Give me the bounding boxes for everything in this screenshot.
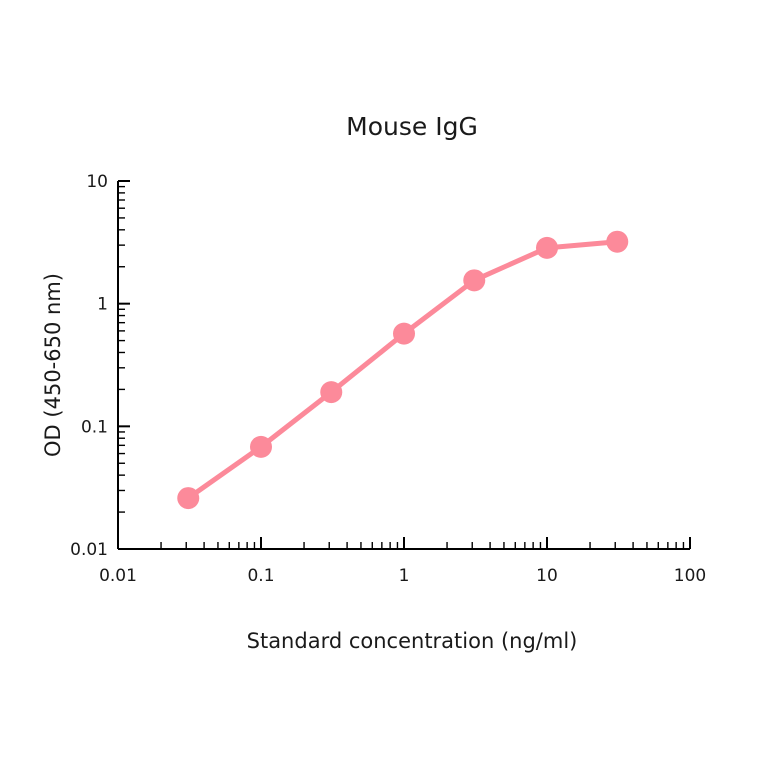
data-point-marker bbox=[177, 487, 199, 509]
y-axis-tick-labels: 1010.10.01 bbox=[70, 172, 108, 560]
chart-container: Mouse IgG Standard concentration (ng/ml)… bbox=[0, 0, 764, 764]
x-tick-label: 100 bbox=[674, 566, 706, 586]
series-line bbox=[188, 242, 617, 498]
data-series-layer bbox=[177, 231, 628, 509]
x-tick-label: 1 bbox=[399, 566, 410, 586]
data-point-marker bbox=[250, 436, 272, 458]
y-axis-label: OD (450-650 nm) bbox=[41, 273, 65, 457]
standard-curve-chart: Mouse IgG Standard concentration (ng/ml)… bbox=[0, 0, 764, 764]
data-point-marker bbox=[320, 381, 342, 403]
y-tick-label: 10 bbox=[86, 172, 108, 192]
data-point-marker bbox=[393, 323, 415, 345]
x-tick-label: 0.1 bbox=[247, 566, 274, 586]
x-axis-label: Standard concentration (ng/ml) bbox=[247, 629, 578, 653]
y-tick-label: 1 bbox=[97, 295, 108, 315]
data-point-marker bbox=[536, 237, 558, 259]
y-axis-ticks bbox=[118, 181, 130, 549]
chart-title: Mouse IgG bbox=[346, 112, 478, 141]
x-axis-tick-labels: 0.010.1110100 bbox=[99, 566, 706, 586]
axis-lines bbox=[118, 181, 690, 549]
x-tick-label: 0.01 bbox=[99, 566, 137, 586]
y-tick-label: 0.01 bbox=[70, 540, 108, 560]
data-point-marker bbox=[606, 231, 628, 253]
x-tick-label: 10 bbox=[536, 566, 558, 586]
y-tick-label: 0.1 bbox=[81, 417, 108, 437]
data-point-marker bbox=[463, 269, 485, 291]
x-axis-ticks bbox=[118, 537, 690, 549]
